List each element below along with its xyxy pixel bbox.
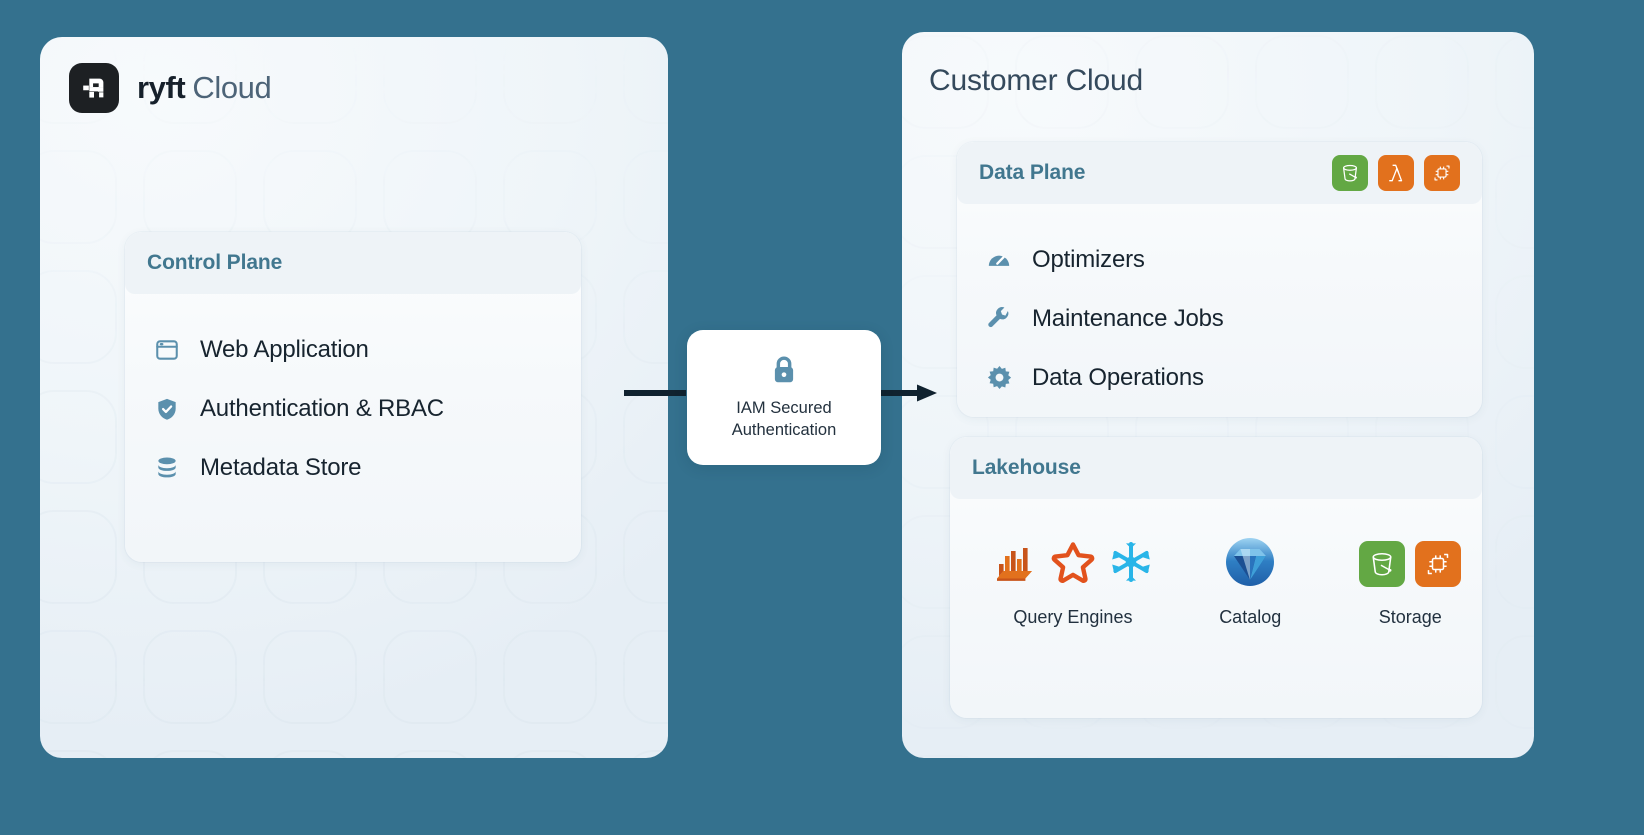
brand-name: ryft xyxy=(137,70,185,105)
arrow-right-icon xyxy=(624,380,692,406)
database-stack-icon xyxy=(153,454,181,482)
list-item-maintenance-jobs[interactable]: Maintenance Jobs xyxy=(985,289,1482,348)
list-item-label: Web Application xyxy=(200,336,369,364)
control-plane-title: Control Plane xyxy=(147,251,282,275)
storage-icons xyxy=(1359,533,1461,595)
list-item-web-application[interactable]: Web Application xyxy=(153,320,581,379)
list-item-label: Maintenance Jobs xyxy=(1032,305,1224,333)
lakehouse-group-catalog: Catalog xyxy=(1170,533,1331,628)
ryft-cloud-panel: ryftCloud Control Plane Web Application xyxy=(40,37,668,758)
page-title: Customer Cloud xyxy=(929,64,1143,98)
snowflake-icon xyxy=(1107,538,1155,591)
data-plane-item-list: Optimizers Maintenance Jobs Data Op xyxy=(957,204,1482,407)
lakehouse-groups: Query Engines xyxy=(950,499,1482,628)
list-item-label: Data Operations xyxy=(1032,364,1204,392)
data-plane-header: Data Plane xyxy=(957,142,1482,204)
list-item-label: Metadata Store xyxy=(200,454,361,482)
iam-secured-authentication-box: IAM Secured Authentication xyxy=(687,330,881,465)
lakehouse-card: Lakehouse xyxy=(950,437,1482,718)
lakehouse-group-caption: Catalog xyxy=(1219,607,1281,628)
data-plane-title: Data Plane xyxy=(979,161,1085,185)
ryft-logo-icon xyxy=(69,63,119,113)
gauge-icon xyxy=(985,246,1013,274)
list-item-authentication-rbac[interactable]: Authentication & RBAC xyxy=(153,379,581,438)
glue-gem-icon xyxy=(1225,537,1275,592)
iam-label: IAM Secured Authentication xyxy=(732,398,837,440)
lakehouse-group-caption: Storage xyxy=(1379,607,1442,628)
ryft-brand-text: ryftCloud xyxy=(137,70,271,106)
control-plane-card: Control Plane Web Application xyxy=(125,232,581,562)
customer-cloud-panel: Customer Cloud Data Plane xyxy=(902,32,1534,758)
chip-icon xyxy=(1424,155,1460,191)
shield-check-icon xyxy=(153,395,181,423)
browser-window-icon xyxy=(153,336,181,364)
list-item-label: Optimizers xyxy=(1032,246,1145,274)
brand-suffix: Cloud xyxy=(192,70,271,105)
ryft-brand-header: ryftCloud xyxy=(69,63,271,113)
query-engine-icons xyxy=(991,533,1155,595)
lakehouse-header: Lakehouse xyxy=(950,437,1482,499)
list-item-label: Authentication & RBAC xyxy=(200,395,444,423)
chip-icon xyxy=(1415,541,1461,587)
data-plane-service-badges xyxy=(1332,155,1460,191)
catalog-icons xyxy=(1225,533,1275,595)
lakehouse-group-query-engines: Query Engines xyxy=(984,533,1162,628)
control-plane-header: Control Plane xyxy=(125,232,581,294)
s3-bucket-icon xyxy=(1332,155,1368,191)
lakehouse-group-caption: Query Engines xyxy=(1013,607,1132,628)
list-item-data-operations[interactable]: Data Operations xyxy=(985,348,1482,407)
lakehouse-group-storage: Storage xyxy=(1339,533,1482,628)
data-plane-card: Data Plane xyxy=(957,142,1482,417)
control-plane-item-list: Web Application Authentication & RBAC xyxy=(125,294,581,497)
list-item-metadata-store[interactable]: Metadata Store xyxy=(153,438,581,497)
lakehouse-title: Lakehouse xyxy=(972,456,1081,480)
customer-cloud-header: Customer Cloud xyxy=(929,64,1143,98)
gear-icon xyxy=(985,364,1013,392)
lambda-icon xyxy=(1378,155,1414,191)
wrench-icon xyxy=(985,305,1013,333)
list-item-optimizers[interactable]: Optimizers xyxy=(985,230,1482,289)
s3-bucket-icon xyxy=(1359,541,1405,587)
athena-bars-icon xyxy=(991,538,1039,591)
lock-icon xyxy=(769,354,799,386)
arrow-right-icon xyxy=(879,380,943,406)
starburst-star-icon xyxy=(1049,538,1097,591)
